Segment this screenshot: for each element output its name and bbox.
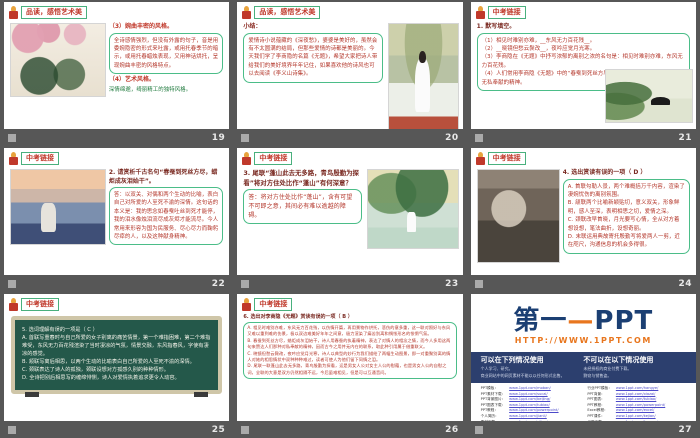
page-number: 27 xyxy=(678,425,692,435)
slide-footer-icon xyxy=(241,134,249,142)
link-values-left: www.1ppt.com/moban/ www.1ppt.com/sucai/ … xyxy=(509,386,558,421)
slide-cell-20[interactable]: 品读，感悟艺术美 小结： 爱情诗小说蕴藏的《深夜愁》，婆婆是美好的，虽然会有不太… xyxy=(233,0,466,146)
slide-header: 品读，感悟艺术美 xyxy=(237,2,462,19)
option-a: A. 首联勾勒人景，两个难概括万千内容，渲染了凄婉忧伤的离别氛围。 xyxy=(568,183,685,200)
body-text: 全诗感情强烈，但没有外露的句子，音是用委婉隐密的形式来吐露，或用托春季节的暗示，… xyxy=(114,37,218,71)
slide-footer-icon xyxy=(8,280,16,288)
brand-url: HTTP://WWW.1PPT.COM xyxy=(471,336,696,345)
option-a: A. 相见时难别亦难，东风无力百花残，以伤情开篇，再用景物作烘托，悲伤的意多重，… xyxy=(247,325,452,338)
slide-cell-25[interactable]: 中考链接 5. 选词理解有误的一项是（ C ） A. 首联写重春时与自己所爱的女… xyxy=(0,292,233,438)
slide-cell-27[interactable]: 第一—PPT HTTP://WWW.1PPT.COM 可以在下列情况使用 个人学… xyxy=(467,292,700,438)
slide-footer-icon xyxy=(475,280,483,288)
slide-body: 小结： 爱情诗小说蕴藏的《深夜愁》，婆婆是美好的，虽然会有不太圆满的结局，但那些… xyxy=(237,19,462,129)
slide-20[interactable]: 品读，感悟艺术美 小结： 爱情诗小说蕴藏的《深夜愁》，婆婆是美好的，虽然会有不太… xyxy=(237,2,462,129)
slide-footer: 23 xyxy=(237,275,462,292)
body-text-2: 深情绵邈，绮丽精工的独特风格。 xyxy=(109,86,223,94)
slide-27[interactable]: 第一—PPT HTTP://WWW.1PPT.COM 可以在下列情况使用 个人学… xyxy=(471,294,696,421)
link-column-right: 行业PPT模板： PPT背景： PPT图表： PPT教程： Excel教程： P… xyxy=(587,386,686,421)
fill-blank-3: （3）李商隐在《无题》中抒写浓郁的离别之浓的名句是：相见时难别亦难，东风无力百花… xyxy=(482,53,685,70)
section-badge: 中考链接 xyxy=(254,298,292,311)
torch-icon xyxy=(242,298,251,311)
link-columns: PPT模板： PPT素材下载： PPT背景图片： PPT图表下载： PPT教程：… xyxy=(471,383,696,421)
slide-image-plum xyxy=(10,23,106,97)
option-b: B. 颔联写离后相思，以两个生动的比喻表白自己所爱的人至死不渝的深情。 xyxy=(22,358,211,366)
answer-box: 全诗感情强烈，但没有外露的句子，音是用委婉隐密的形式来吐露，或用托春季节的暗示，… xyxy=(109,33,223,75)
brand-logo-cn: 第一 xyxy=(513,306,567,336)
section-badge: 品读，感悟艺术美 xyxy=(21,6,87,19)
page-number: 26 xyxy=(445,425,459,435)
deny-note-2: 剽窃与销售盗。 xyxy=(583,373,686,379)
page-number: 19 xyxy=(212,133,226,143)
slide-cell-23[interactable]: 中考链接 3. 尾联“蓬山此去无多路，青鸟殷勤为探看”将对方住处比作“蓬山”有何… xyxy=(233,146,466,292)
option-b: B. 春蚕到死丝方尽，蜡炬成灰泪始干，诗人用春蚕的执着精神，表达了对情人的相念之… xyxy=(247,338,452,351)
slide-footer-icon xyxy=(475,426,483,434)
slide-header: 品读，感悟艺术美 xyxy=(4,2,229,19)
page-number: 20 xyxy=(445,133,459,143)
torch-icon xyxy=(9,152,18,165)
option-d: D. 全诗把别后相思写的缠绵悱恻，诗人对爱情执着追求更令人动容。 xyxy=(22,374,211,382)
answer-box: 答：以双关、对偶和两个生动的比喻，表白自己对所爱的人至死不渝的深情。这句话的本义… xyxy=(109,187,223,245)
slide-footer: 19 xyxy=(4,129,229,146)
torch-icon xyxy=(9,298,18,311)
options-box: A. 相见时难别亦难，东风无力百花残，以伤情开篇，再用景物作烘托，悲伤的意多重，… xyxy=(243,322,456,379)
slide-image-lady-scroll xyxy=(388,23,458,129)
slide-footer-icon xyxy=(475,134,483,142)
body-text: 爱情诗小说蕴藏的《深夜愁》，婆婆是美好的，虽然会有不太圆满的结局，但那些爱情的诗… xyxy=(248,37,378,79)
slide-header: 中考链接 xyxy=(237,294,462,311)
slide-image-interior xyxy=(477,169,560,263)
brand-logo-dash: — xyxy=(567,306,594,336)
slide-image-willow xyxy=(605,69,693,123)
slide-image-willow-wrap xyxy=(605,69,691,123)
section-badge: 中考链接 xyxy=(254,152,292,165)
torch-icon xyxy=(242,152,251,165)
slide-thumbnail-grid: 品读，感悟艺术美 （3）婉曲丰密的风格。 全诗感情强烈，但没有外露的句子，音是用… xyxy=(0,0,700,438)
slide-body: 6. 选出对李商隐《无题》赏读有误的一项（ B ） A. 相见时难别亦难，东风无… xyxy=(237,311,462,379)
usage-denied: 不可以在以下情况使用 未经授权的商业付费下载。 剽窃与销售盗。 xyxy=(583,355,686,379)
answer-text: 答：以双关、对偶和两个生动的比喻，表白自己对所爱的人至死不渝的深情。这句话的本义… xyxy=(114,191,218,241)
slide-24[interactable]: 中考链接 4. 选出赏读有误的一项（ D ） A. 首联勾勒人景，两个难概括万千… xyxy=(471,148,696,275)
brand-logo: 第一—PPT xyxy=(471,294,696,334)
torch-icon xyxy=(9,6,18,19)
page-number: 22 xyxy=(212,279,226,289)
slide-header: 中考链接 xyxy=(471,148,696,165)
page-number: 24 xyxy=(678,279,692,289)
section-badge: 中考链接 xyxy=(488,6,526,19)
slide-image-mountain xyxy=(367,169,459,249)
slide-26[interactable]: 中考链接 6. 选出对李商隐《无题》赏读有误的一项（ B ） A. 相见时难别亦… xyxy=(237,294,462,421)
slide-footer: 26 xyxy=(237,421,462,438)
question-heading: 4. 选出赏读有误的一项（ D ） xyxy=(563,169,690,178)
slide-footer-icon xyxy=(8,426,16,434)
slide-header: 中考链接 xyxy=(4,294,229,311)
options-box: A. 首联勾勒人景，两个难概括万千内容，渲染了凄婉忧伤的离别氛围。 B. 颔联两… xyxy=(563,179,690,254)
slide-25[interactable]: 中考链接 5. 选词理解有误的一项是（ C ） A. 首联写重春时与自己所爱的女… xyxy=(4,294,229,421)
slide-body: （3）婉曲丰密的风格。 全诗感情强烈，但没有外露的句子，音是用委婉隐密的形式来吐… xyxy=(4,19,229,97)
heading-3: （3）婉曲丰密的风格。 xyxy=(109,23,223,32)
option-d: D. 末联运用典故寄托殷勤写将爱两人一剪，近在咫尺，沟通信息的机会多得很。 xyxy=(568,233,685,250)
chalkboard: 5. 选词理解有误的一项是（ C ） A. 首联写重春时与自己所爱的女子别离的痛… xyxy=(11,316,222,394)
answer-text: 答：将对方住处比作“蓬山”，含有可望不可即之意，其间必有难以逾越的障碍。 xyxy=(248,193,357,220)
torch-icon xyxy=(476,6,485,19)
torch-icon xyxy=(242,6,251,19)
question-heading: 1. 默写填空。 xyxy=(477,23,690,32)
link-keys-left: PPT模板： PPT素材下载： PPT背景图片： PPT图表下载： PPT教程：… xyxy=(481,386,506,421)
slide-19[interactable]: 品读，感悟艺术美 （3）婉曲丰密的风格。 全诗感情强烈，但没有外露的句子，音是用… xyxy=(4,2,229,129)
link-keys-right: 行业PPT模板： PPT背景： PPT图表： PPT教程： Excel教程： P… xyxy=(587,386,612,421)
fill-blank-1: （1）相见时难别亦难，__东风无力百花残__。 xyxy=(482,37,685,45)
slide-cell-21[interactable]: 中考链接 1. 默写填空。 （1）相见时难别亦难，__东风无力百花残__。 （2… xyxy=(467,0,700,146)
slide-footer: 24 xyxy=(471,275,696,292)
slide-header: 中考链接 xyxy=(471,2,696,19)
question-heading: 6. 选出对李商隐《无题》赏读有误的一项（ B ） xyxy=(243,314,456,321)
slide-body: 4. 选出赏读有误的一项（ D ） A. 首联勾勒人景，两个难概括万千内容，渲染… xyxy=(471,165,696,263)
option-c: C. 颈联表达了诗人的孤独，颈联设想对方孤感久别的种种情形。 xyxy=(22,366,211,374)
allow-note-1: 个人学习、研究。 xyxy=(481,366,584,372)
usage-allowed: 可以在下列情况使用 个人学习、研究。 商业网站中的网页素材不能以以任何形式出售。 xyxy=(481,355,584,379)
answer-box: 爱情诗小说蕴藏的《深夜愁》，婆婆是美好的，虽然会有不太圆满的结局，但那些爱情的诗… xyxy=(243,33,383,83)
option-b: B. 颔联两个比喻新颖贴切，意义双关，形象鲜明，感人至深，表明相思之切，爱情之深… xyxy=(568,199,685,216)
fill-blank-2: （2）__晓镜但愁云鬓改__，夜吟应觉月光寒。 xyxy=(482,45,685,53)
answer-box: 答：将对方住处比作“蓬山”，含有可望不可即之意，其间必有难以逾越的障碍。 xyxy=(243,189,362,224)
option-c: C. 颈联改早首晓，月光要写心情，全从对方着想设想，笔法曲折，设想奇丽。 xyxy=(568,216,685,233)
section-badge: 品读，感悟艺术美 xyxy=(254,6,320,19)
slide-footer: 25 xyxy=(4,421,229,438)
page-number: 23 xyxy=(445,279,459,289)
slide-header: 中考链接 xyxy=(237,148,462,165)
slide-image-geese xyxy=(10,169,106,245)
summary-label: 小结： xyxy=(243,23,383,32)
slide-cell-19[interactable]: 品读，感悟艺术美 （3）婉曲丰密的风格。 全诗感情强烈，但没有外露的句子，音是用… xyxy=(0,0,233,146)
torch-icon xyxy=(476,152,485,165)
slide-footer: 22 xyxy=(4,275,229,292)
slide-cell-26[interactable]: 中考链接 6. 选出对李商隐《无题》赏读有误的一项（ B ） A. 相见时难别亦… xyxy=(233,292,466,438)
option-d: D. 尾联一联蓬山此去无多路，青鸟殷勤为探看，运是男女人公对女主人公的慰藉，也是… xyxy=(247,363,452,376)
link-column-left: PPT模板： PPT素材下载： PPT背景图片： PPT图表下载： PPT教程：… xyxy=(481,386,580,421)
slide-header: 中考链接 xyxy=(4,148,229,165)
section-badge: 中考链接 xyxy=(488,152,526,165)
deny-title: 不可以在以下情况使用 xyxy=(583,355,686,365)
question-heading: 5. 选词理解有误的一项是（ C ） xyxy=(22,326,211,334)
deny-note-1: 未经授权的商业付费下载。 xyxy=(583,366,686,372)
question-heading: 2. 请赏析千古名句“春蚕到死丝方尽，蜡炬成灰泪始干”。 xyxy=(109,169,223,186)
slide-footer-icon xyxy=(241,426,249,434)
allow-title: 可以在下列情况使用 xyxy=(481,355,584,365)
slide-21[interactable]: 中考链接 1. 默写填空。 （1）相见时难别亦难，__东风无力百花残__。 （2… xyxy=(471,2,696,129)
section-badge: 中考链接 xyxy=(21,298,59,311)
slide-22[interactable]: 中考链接 2. 请赏析千古名句“春蚕到死丝方尽，蜡炬成灰泪始干”。 答：以双关、… xyxy=(4,148,229,275)
slide-footer-icon xyxy=(241,280,249,288)
link-values-right: www.1ppt.com/hangye/ www.1ppt.com/xiazai… xyxy=(616,386,665,421)
slide-footer: 21 xyxy=(471,129,696,146)
usage-bar: 可以在下列情况使用 个人学习、研究。 商业网站中的网页素材不能以以任何形式出售。… xyxy=(471,352,696,383)
allow-note-2: 商业网站中的网页素材不能以以任何形式出售。 xyxy=(481,373,584,379)
slide-cell-22[interactable]: 中考链接 2. 请赏析千古名句“春蚕到死丝方尽，蜡炬成灰泪始干”。 答：以双关、… xyxy=(0,146,233,292)
slide-cell-24[interactable]: 中考链接 4. 选出赏读有误的一项（ D ） A. 首联勾勒人景，两个难概括万千… xyxy=(467,146,700,292)
chalkboard-legs xyxy=(15,392,218,397)
slide-body: 2. 请赏析千古名句“春蚕到死丝方尽，蜡炬成灰泪始干”。 答：以双关、对偶和两个… xyxy=(4,165,229,245)
slide-footer: 20 xyxy=(237,129,462,146)
question-heading: 3. 尾联“蓬山此去无多路，青鸟殷勤为探看”将对方住处比作“蓬山”有何深意？ xyxy=(243,169,362,188)
section-badge: 中考链接 xyxy=(21,152,59,165)
slide-footer-icon xyxy=(8,134,16,142)
option-c: C. 晓镜但愁云鬓改，夜吟应觉月光寒，诗人以典型的妙行为我们描绘了两幅生动图景，… xyxy=(247,351,452,364)
brand-logo-en: PPT xyxy=(594,306,653,336)
slide-footer: 27 xyxy=(471,421,696,438)
heading-4: （4）艺术风格。 xyxy=(109,76,223,85)
slide-body: 3. 尾联“蓬山此去无多路，青鸟殷勤为探看”将对方住处比作“蓬山”有何深意？ 答… xyxy=(237,165,462,249)
page-number: 25 xyxy=(212,425,226,435)
option-a: A. 首联写重春时与自己所爱的女子别离的痛苦情景，第一个难指困难，第二个难指难受… xyxy=(22,334,211,358)
page-number: 21 xyxy=(678,133,692,143)
slide-23[interactable]: 中考链接 3. 尾联“蓬山此去无多路，青鸟殷勤为探看”将对方住处比作“蓬山”有何… xyxy=(237,148,462,275)
